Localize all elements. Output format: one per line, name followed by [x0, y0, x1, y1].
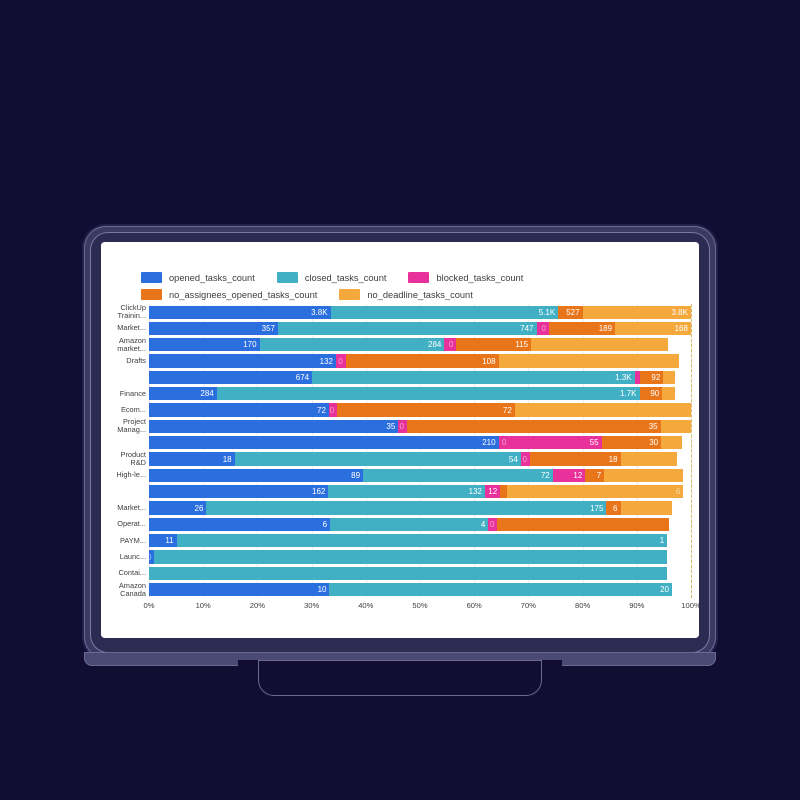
- stacked-bar: 162132126: [149, 485, 691, 498]
- legend-swatch-icon: [277, 272, 298, 283]
- bar-segment[interactable]: 12: [485, 485, 500, 498]
- bar-row[interactable]: 6741.3K92: [149, 369, 691, 385]
- chart-legend: opened_tasks_countclosed_tasks_countbloc…: [141, 272, 681, 300]
- bar-segment[interactable]: 527: [558, 306, 582, 319]
- bar-segment[interactable]: 3.8K: [149, 306, 331, 319]
- bar-row[interactable]: Market...261756: [149, 500, 691, 516]
- bar-segment[interactable]: 170: [149, 338, 260, 351]
- stacked-bar: 1702840115: [149, 338, 691, 351]
- legend-label: blocked_tasks_count: [436, 273, 523, 283]
- device-stand: [258, 660, 542, 696]
- bar-segment[interactable]: 18: [530, 452, 621, 465]
- bar-segment[interactable]: [531, 338, 668, 351]
- stacked-bar: 8972127: [149, 469, 691, 482]
- bar-segment[interactable]: 108: [346, 354, 499, 367]
- legend-item[interactable]: opened_tasks_count: [141, 272, 255, 283]
- bar-row[interactable]: 21005530: [149, 435, 691, 451]
- legend-swatch-icon: [141, 272, 162, 283]
- stacked-bar: 261756: [149, 501, 691, 514]
- y-axis-label: ClickUp Trainin...: [106, 304, 146, 320]
- bar-segment[interactable]: 0: [336, 354, 346, 367]
- bar-segment[interactable]: 5.1K: [331, 306, 559, 319]
- bar-segment[interactable]: 10: [149, 583, 329, 596]
- bar-segment[interactable]: 674: [149, 371, 312, 384]
- plot-area: ClickUp Trainin...3.8K5.1K5273.8KMarket.…: [108, 304, 691, 616]
- bar-row[interactable]: Market...3577470189168: [149, 320, 691, 336]
- stacked-bar: 1320108: [149, 354, 691, 367]
- bar-segment[interactable]: [154, 550, 667, 563]
- bar-segment[interactable]: [500, 485, 507, 498]
- y-axis-label: Project Manag...: [106, 418, 146, 434]
- bar-rows: ClickUp Trainin...3.8K5.1K5273.8KMarket.…: [149, 304, 691, 598]
- bar-row[interactable]: Ecom...72072: [149, 402, 691, 418]
- y-axis-label: Amazon Canada: [106, 582, 146, 598]
- bar-segment[interactable]: [499, 354, 679, 367]
- x-axis-tick-label: 50%: [412, 601, 427, 610]
- bar-segment[interactable]: [149, 567, 667, 580]
- bar-segment[interactable]: 26: [149, 501, 206, 514]
- x-axis-tick-label: 80%: [575, 601, 590, 610]
- legend-item[interactable]: no_deadline_tasks_count: [339, 289, 472, 300]
- bar-segment[interactable]: 115: [456, 338, 531, 351]
- legend-swatch-icon: [339, 289, 360, 300]
- bar-segment[interactable]: 210: [149, 436, 499, 449]
- bar-segment[interactable]: 18: [149, 452, 235, 465]
- stacked-bar: [149, 567, 691, 580]
- bar-segment[interactable]: 20: [329, 583, 672, 596]
- bar-segment[interactable]: 35: [149, 420, 398, 433]
- bar-segment[interactable]: [604, 469, 683, 482]
- y-axis-label: Operat...: [106, 520, 146, 528]
- bar-segment[interactable]: 284: [149, 387, 217, 400]
- bar-segment[interactable]: 92: [640, 371, 663, 384]
- bar-segment[interactable]: 6: [606, 501, 620, 514]
- bar-segment[interactable]: 30: [602, 436, 662, 449]
- y-axis-label: Ecom...: [106, 406, 146, 414]
- legend-item[interactable]: blocked_tasks_count: [408, 272, 523, 283]
- gridline: [691, 304, 692, 598]
- legend-label: closed_tasks_count: [305, 273, 387, 283]
- bar-segment[interactable]: 12: [553, 469, 586, 482]
- bar-segment[interactable]: 54: [235, 452, 521, 465]
- bar-row[interactable]: Project Manag...35035: [149, 418, 691, 434]
- bar-segment[interactable]: 284: [260, 338, 445, 351]
- bar-row[interactable]: Drafts1320108: [149, 353, 691, 369]
- legend-item[interactable]: no_assignees_opened_tasks_count: [141, 289, 317, 300]
- y-axis-label: Market...: [106, 504, 146, 512]
- bar-row[interactable]: Launc...0: [149, 549, 691, 565]
- bar-segment[interactable]: [497, 518, 669, 531]
- bar-segment[interactable]: [661, 420, 691, 433]
- device-screen: opened_tasks_countclosed_tasks_countbloc…: [101, 242, 699, 638]
- reference-line: [691, 304, 692, 598]
- bar-segment[interactable]: 90: [640, 387, 663, 400]
- stacked-bar: 6741.3K92: [149, 371, 691, 384]
- bar-segment[interactable]: 0: [521, 452, 530, 465]
- x-axis-tick-label: 10%: [196, 601, 211, 610]
- stacked-bar: 72072: [149, 403, 691, 416]
- bar-segment[interactable]: 1.3K: [312, 371, 634, 384]
- bar-segment[interactable]: 72: [337, 403, 515, 416]
- bar-segment[interactable]: 0: [329, 403, 337, 416]
- bar-segment[interactable]: 132: [149, 354, 336, 367]
- bar-segment[interactable]: 747: [278, 322, 537, 335]
- x-axis-tick-label: 0%: [144, 601, 155, 610]
- bar-segment[interactable]: 7: [585, 469, 604, 482]
- legend-item[interactable]: closed_tasks_count: [277, 272, 387, 283]
- bar-segment[interactable]: 55: [509, 436, 601, 449]
- legend-swatch-icon: [141, 289, 162, 300]
- bar-segment[interactable]: [621, 501, 672, 514]
- legend-swatch-icon: [408, 272, 429, 283]
- bar-segment[interactable]: 1: [177, 534, 668, 547]
- y-axis-label: Product R&D: [106, 451, 146, 467]
- x-axis-tick-label: 70%: [521, 601, 536, 610]
- stacked-bar: 111: [149, 534, 691, 547]
- y-axis-label: PAYM...: [106, 537, 146, 545]
- x-axis-tick-label: 90%: [629, 601, 644, 610]
- bar-row[interactable]: Amazon Canada1020: [149, 582, 691, 598]
- bar-segment[interactable]: 0: [398, 420, 407, 433]
- stacked-bar: 35035: [149, 420, 691, 433]
- bar-segment[interactable]: [662, 387, 675, 400]
- x-axis-tick-label: 100%: [681, 601, 699, 610]
- bar-segment[interactable]: [621, 452, 678, 465]
- bar-segment[interactable]: 0: [499, 436, 510, 449]
- bar-segment[interactable]: 162: [149, 485, 328, 498]
- bar-segment[interactable]: 0: [537, 322, 549, 335]
- y-axis-label: High-le...: [106, 471, 146, 479]
- bar-segment[interactable]: 72: [363, 469, 553, 482]
- bar-segment[interactable]: 0: [488, 518, 497, 531]
- stacked-bar: 3.8K5.1K5273.8K: [149, 306, 691, 319]
- legend-label: opened_tasks_count: [169, 273, 255, 283]
- bar-row[interactable]: PAYM...111: [149, 533, 691, 549]
- y-axis-label: Launc...: [106, 553, 146, 561]
- bar-segment[interactable]: 3.8K: [583, 306, 691, 319]
- bar-segment[interactable]: 357: [149, 322, 278, 335]
- stacked-bar: 2841.7K90: [149, 387, 691, 400]
- bar-segment[interactable]: 175: [206, 501, 606, 514]
- stacked-bar: 3577470189168: [149, 322, 691, 335]
- stacked-bar: 1020: [149, 583, 691, 596]
- x-axis: 0%10%20%30%40%50%60%70%80%90%100%: [149, 600, 691, 616]
- bar-segment[interactable]: [661, 436, 682, 449]
- bar-segment[interactable]: 132: [328, 485, 485, 498]
- bar-row[interactable]: Contai...: [149, 565, 691, 581]
- bar-segment[interactable]: 4: [330, 518, 488, 531]
- bar-segment[interactable]: 1.7K: [217, 387, 640, 400]
- x-axis-tick-label: 60%: [467, 601, 482, 610]
- y-axis-label: Drafts: [106, 357, 146, 365]
- x-axis-tick-label: 20%: [250, 601, 265, 610]
- stacked-bar: 640: [149, 518, 691, 531]
- bar-segment[interactable]: 89: [149, 469, 363, 482]
- y-axis-label: Amazon market...: [106, 337, 146, 353]
- y-axis-label: Finance: [106, 390, 146, 398]
- page-root: opened_tasks_countclosed_tasks_countbloc…: [0, 0, 800, 800]
- bar-row[interactable]: Amazon market...1702840115: [149, 337, 691, 353]
- bar-row[interactable]: Product R&D1854018: [149, 451, 691, 467]
- bar-segment[interactable]: [515, 403, 691, 416]
- bar-segment[interactable]: 6: [507, 485, 683, 498]
- stacked-bar: 0: [149, 550, 691, 563]
- bar-segment[interactable]: 6: [149, 518, 330, 531]
- stacked-bar: 21005530: [149, 436, 691, 449]
- bar-segment[interactable]: 35: [407, 420, 661, 433]
- bar-segment[interactable]: 0: [444, 338, 456, 351]
- y-axis-label: Market...: [106, 324, 146, 332]
- bar-row[interactable]: Finance2841.7K90: [149, 386, 691, 402]
- bar-segment[interactable]: 72: [149, 403, 329, 416]
- bar-row[interactable]: 162132126: [149, 484, 691, 500]
- x-axis-tick-label: 30%: [304, 601, 319, 610]
- y-axis-label: Contai...: [106, 569, 146, 577]
- bar-row[interactable]: High-le...8972127: [149, 467, 691, 483]
- bar-segment[interactable]: 168: [615, 322, 691, 335]
- chart-container: opened_tasks_countclosed_tasks_countbloc…: [101, 242, 699, 638]
- x-axis-tick-label: 40%: [358, 601, 373, 610]
- stacked-bar: 1854018: [149, 452, 691, 465]
- legend-label: no_deadline_tasks_count: [367, 290, 472, 300]
- bar-row[interactable]: ClickUp Trainin...3.8K5.1K5273.8K: [149, 304, 691, 320]
- bar-segment[interactable]: 189: [549, 322, 615, 335]
- legend-label: no_assignees_opened_tasks_count: [169, 290, 317, 300]
- bar-row[interactable]: Operat...640: [149, 516, 691, 532]
- bar-segment[interactable]: 11: [149, 534, 177, 547]
- bar-segment[interactable]: [663, 371, 674, 384]
